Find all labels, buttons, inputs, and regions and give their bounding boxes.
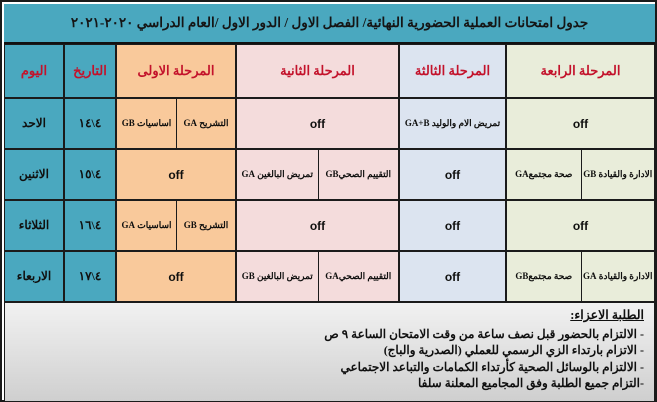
cell-text: off	[168, 168, 183, 182]
cell-text: اساسيات GA	[117, 201, 176, 250]
student-notes-panel: الطلبة الاعزاء: - الالتزام بالحضور قبل ن…	[4, 302, 655, 402]
exam-schedule-table: المرحلة الرابعة المرحلة الثالثة المرحلة …	[4, 44, 655, 302]
cell-text: تمريض الام والوليد GA+B	[405, 118, 500, 129]
cell-day-row2: الاثنين	[4, 149, 64, 200]
cell-text: صحة مجتمعGB	[507, 252, 581, 301]
cell-date-row1: ٤\١٤	[64, 98, 116, 149]
table-row: الادارة والقيادة GA صحة مجتمعGB off التق…	[4, 251, 655, 302]
table-row: off off off التشريح GB اساسيات GA ٤\١٦ ا…	[4, 200, 655, 251]
cell-stage3-row2: off	[399, 149, 506, 200]
cell-date-row3: ٤\١٦	[64, 200, 116, 251]
cell-text: التقييم الصحيGB	[318, 150, 399, 199]
cell-stage1-row2: off	[116, 149, 236, 200]
exam-schedule-page: جدول امتحانات العملية الحضورية النهائية/…	[0, 0, 657, 402]
cell-stage1-row4: off	[116, 251, 236, 302]
cell-text: التقييم الصحيGA	[318, 252, 399, 301]
cell-text: off	[310, 117, 325, 131]
cell-date-row4: ٤\١٧	[64, 251, 116, 302]
cell-text: الادارة والقيادة GB	[581, 150, 655, 199]
cell-stage4-row2: الادارة والقيادة GB صحة مجتمعGA	[506, 149, 655, 200]
cell-stage1-row3: التشريح GB اساسيات GA	[116, 200, 236, 251]
cell-stage4-row1: off	[506, 98, 655, 149]
note-line-4: -التزام جميع الطلبة وفق المجاميع المعلنة…	[15, 375, 644, 392]
table-row: off تمريض الام والوليد GA+B off التشريح …	[4, 98, 655, 149]
cell-text: off	[573, 117, 588, 131]
cell-text: off	[445, 219, 460, 233]
document-title-bar: جدول امتحانات العملية الحضورية النهائية/…	[4, 4, 655, 44]
column-header-stage3: المرحلة الثالثة	[399, 44, 506, 98]
cell-text: off	[573, 219, 588, 233]
column-header-day: اليوم	[4, 44, 64, 98]
cell-text: تمريض البالغين GA	[237, 150, 318, 199]
table-row: الادارة والقيادة GB صحة مجتمعGA off التق…	[4, 149, 655, 200]
cell-stage2-row2: التقييم الصحيGB تمريض البالغين GA	[236, 149, 399, 200]
cell-stage1-row1: التشريح GA اساسيات GB	[116, 98, 236, 149]
table-header-row: المرحلة الرابعة المرحلة الثالثة المرحلة …	[4, 44, 655, 98]
cell-day-row1: الاحد	[4, 98, 64, 149]
column-header-date: التاريخ	[64, 44, 116, 98]
notes-title: الطلبة الاعزاء:	[15, 308, 644, 324]
cell-date-row2: ٤\١٥	[64, 149, 116, 200]
cell-text: التشريح GB	[176, 201, 235, 250]
cell-text: off	[445, 168, 460, 182]
note-line-2: - الاتزام بارتداء الزي الرسمي للعملي (ال…	[15, 342, 644, 359]
cell-stage4-row3: off	[506, 200, 655, 251]
cell-stage2-row4: التقييم الصحيGA تمريض البالغين GB	[236, 251, 399, 302]
cell-text: تمريض البالغين GB	[237, 252, 318, 301]
cell-day-row3: الثلاثاء	[4, 200, 64, 251]
note-line-3: - الالتزام بالوسائل الصحية كأرتداء الكما…	[15, 359, 644, 376]
cell-day-row4: الاربعاء	[4, 251, 64, 302]
cell-text: صحة مجتمعGA	[507, 150, 581, 199]
cell-stage3-row1: تمريض الام والوليد GA+B	[399, 98, 506, 149]
cell-text: off	[310, 219, 325, 233]
cell-stage3-row4: off	[399, 251, 506, 302]
cell-text: اساسيات GB	[117, 99, 176, 148]
column-header-stage1: المرحلة الاولى	[116, 44, 236, 98]
cell-stage3-row3: off	[399, 200, 506, 251]
document-title: جدول امتحانات العملية الحضورية النهائية/…	[65, 16, 594, 31]
column-header-stage2: المرحلة الثانية	[236, 44, 399, 98]
note-line-1: - الالتزام بالحضور قبل نصف ساعة من وقت ا…	[15, 326, 644, 343]
cell-text: off	[168, 270, 183, 284]
cell-text: الادارة والقيادة GA	[581, 252, 655, 301]
cell-stage2-row1: off	[236, 98, 399, 149]
cell-stage2-row3: off	[236, 200, 399, 251]
cell-stage4-row4: الادارة والقيادة GA صحة مجتمعGB	[506, 251, 655, 302]
cell-text: off	[445, 270, 460, 284]
cell-text: التشريح GA	[176, 99, 235, 148]
column-header-stage4: المرحلة الرابعة	[506, 44, 655, 98]
